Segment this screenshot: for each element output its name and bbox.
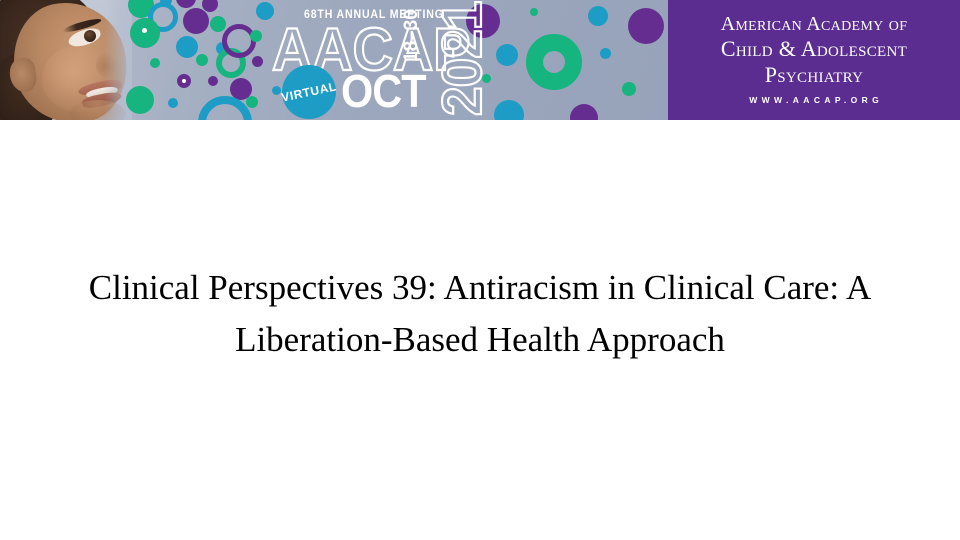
bubble-purple-3 [202,0,218,12]
title-block: Clinical Perspectives 39: Antiracism in … [48,262,912,366]
virtual-badge: VIRTUAL [282,65,336,119]
aacap-logo-line-3: Psychiatry [668,62,960,88]
bubble-ring-purple-1 [222,24,256,58]
page-title: Clinical Perspectives 39: Antiracism in … [48,262,912,366]
bubble-purple-1 [183,8,209,34]
year-label: 2021 [434,1,490,116]
photo-pupil [84,30,96,42]
bubble-green-4 [126,86,154,114]
bubble-dot [142,28,147,33]
bubble-purple-6 [252,56,263,67]
aacap-logo-line-2: Child & Adolescent [668,36,960,62]
aacap-logo-text: American Academy of Child & Adolescent P… [668,12,960,105]
virtual-badge-label: VIRTUAL [280,79,338,104]
bubble-dot [182,79,186,83]
conference-lockup: 68TH ANNUAL MEETING AACAP OCT 18–30 2021… [276,2,666,120]
bubble-green-8 [246,96,258,108]
bubble-teal-2 [176,36,198,58]
bubble-green-6 [210,16,226,32]
banner-art-panel: 68TH ANNUAL MEETING AACAP OCT 18–30 2021… [0,0,668,120]
aacap-logo-line-1: American Academy of [668,12,960,36]
bubble-green-2 [130,18,160,48]
bubble-green-5 [196,54,208,66]
child-photo [0,0,132,120]
bubble-green-7 [250,30,262,42]
bubble-purple-7 [176,0,196,8]
conference-banner: 68TH ANNUAL MEETING AACAP OCT 18–30 2021… [0,0,960,120]
slide-canvas: 68TH ANNUAL MEETING AACAP OCT 18–30 2021… [0,0,960,540]
aacap-logo-panel: American Academy of Child & Adolescent P… [668,0,960,120]
bubble-purple-2 [177,74,191,88]
bubble-teal-3 [168,98,178,108]
aacap-website-url: WWW.AACAP.ORG [668,95,960,105]
month-label: OCT [341,68,426,114]
bubble-green-3 [150,58,160,68]
bubble-purple-4 [208,76,218,86]
